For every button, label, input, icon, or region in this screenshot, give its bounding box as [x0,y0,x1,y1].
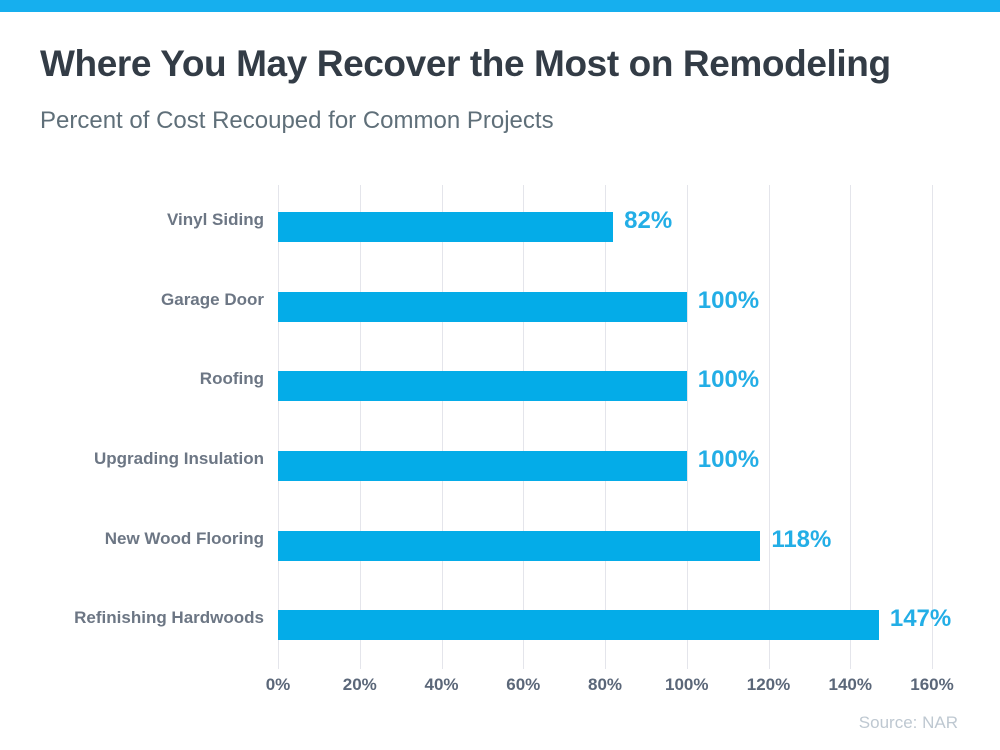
bar-row: Upgrading Insulation100% [278,424,932,504]
gridline-160pct [932,185,933,663]
category-label: Roofing [200,369,264,389]
bar [278,531,760,561]
x-tick-label: 100% [665,675,708,695]
x-tick-label: 60% [506,675,540,695]
bar [278,610,879,640]
bar-value-label: 118% [771,526,831,554]
bar-row: Garage Door100% [278,265,932,345]
x-tick-label: 140% [829,675,872,695]
x-tick-mark [850,663,851,669]
bar-value-label: 100% [698,446,759,474]
bar [278,212,613,242]
bar-row: New Wood Flooring118% [278,504,932,584]
x-axis: 0%20%40%60%80%100%120%140%160% [278,663,932,703]
x-tick-mark [932,663,933,669]
bar [278,451,687,481]
remodeling-cost-recouped-infographic: Where You May Recover the Most on Remode… [0,0,1000,750]
page-title: Where You May Recover the Most on Remode… [40,43,980,85]
x-tick-label: 20% [343,675,377,695]
category-label: Garage Door [161,290,264,310]
x-tick-label: 160% [910,675,953,695]
bar-value-label: 82% [624,207,672,235]
bar [278,292,687,322]
bar-rows: Vinyl Siding82%Garage Door100%Roofing100… [278,185,932,663]
x-tick-label: 120% [747,675,790,695]
x-tick-mark [278,663,279,669]
bar-chart-plot-area: Vinyl Siding82%Garage Door100%Roofing100… [278,185,932,663]
category-label: Refinishing Hardwoods [74,608,264,628]
x-tick-mark [605,663,606,669]
x-tick-mark [769,663,770,669]
x-tick-label: 40% [424,675,458,695]
bar-value-label: 100% [698,366,759,394]
top-accent-bar [0,0,1000,12]
bar-row: Vinyl Siding82% [278,185,932,265]
source-note: Source: NAR [859,713,958,733]
bar [278,371,687,401]
x-tick-mark [687,663,688,669]
category-label: New Wood Flooring [105,529,264,549]
category-label: Upgrading Insulation [94,449,264,469]
x-tick-mark [360,663,361,669]
x-tick-mark [442,663,443,669]
bar-value-label: 147% [890,605,951,633]
bar-row: Refinishing Hardwoods147% [278,583,932,663]
bar-value-label: 100% [698,287,759,315]
bar-row: Roofing100% [278,344,932,424]
x-tick-mark [523,663,524,669]
x-tick-label: 0% [266,675,291,695]
x-tick-label: 80% [588,675,622,695]
page-subtitle: Percent of Cost Recouped for Common Proj… [40,107,980,135]
category-label: Vinyl Siding [167,210,264,230]
